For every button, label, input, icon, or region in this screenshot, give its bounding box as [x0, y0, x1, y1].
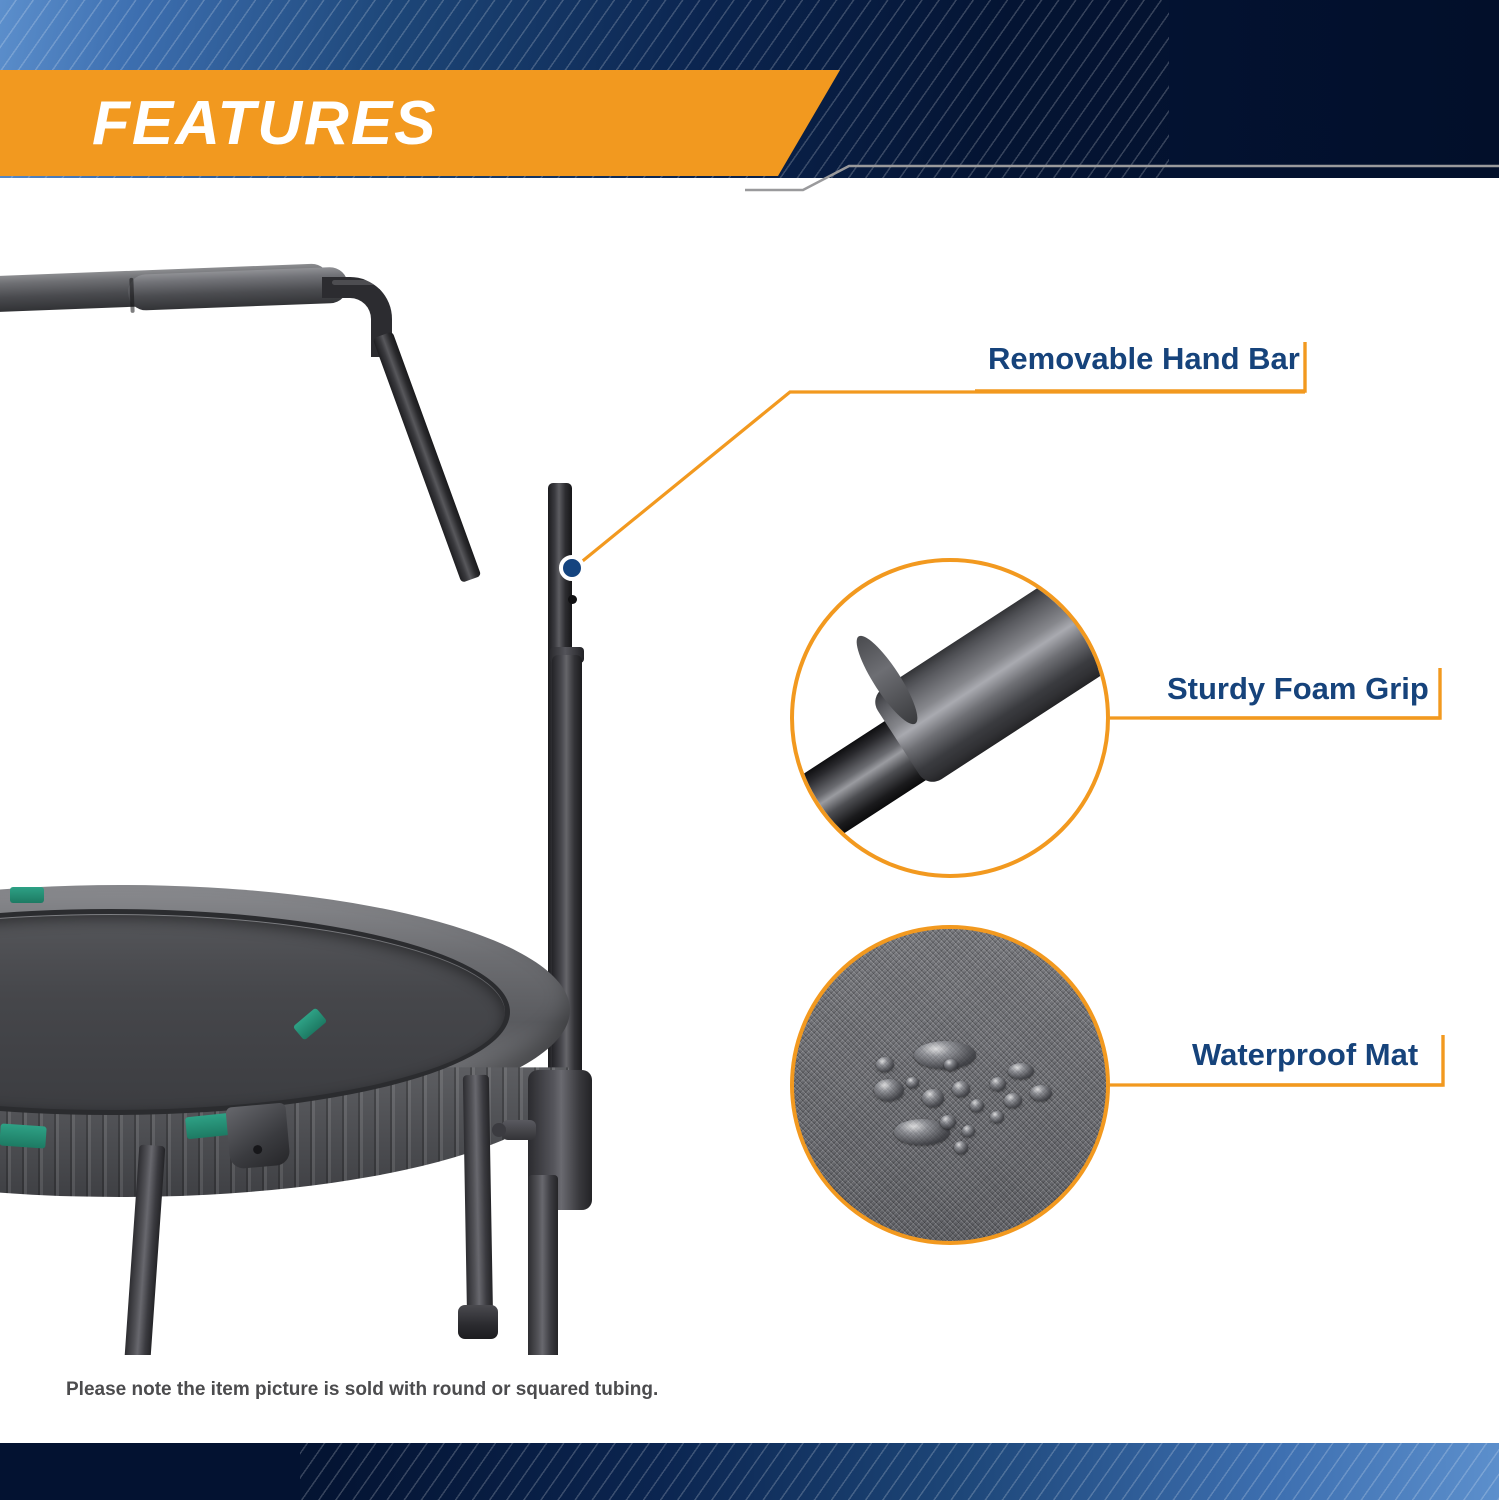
- page-title: FEATURES: [92, 78, 438, 170]
- header-background-right-solid: [1169, 0, 1499, 178]
- water-droplet: [990, 1077, 1006, 1091]
- trampoline-leg: [528, 1175, 558, 1355]
- trampoline-leg: [463, 1075, 493, 1325]
- water-droplet: [954, 1141, 968, 1154]
- water-droplet: [1008, 1063, 1034, 1079]
- callout-label-waterproof-mat: Waterproof Mat: [1192, 1037, 1418, 1073]
- hand-bar-anchor-dot: [559, 555, 585, 581]
- feature-infographic-page: FEATURES: [0, 0, 1499, 1500]
- product-illustration: [0, 215, 700, 1355]
- header-accent-rule: [745, 160, 1499, 194]
- hand-bar-post-screw: [568, 595, 577, 604]
- water-droplet: [876, 1057, 894, 1072]
- hand-bar-foam-right: [127, 267, 348, 311]
- water-droplet: [1030, 1085, 1052, 1101]
- hand-bar-mount-knob: [502, 1120, 536, 1140]
- water-droplet: [962, 1125, 975, 1137]
- detail-circle-foam-grip: [790, 558, 1110, 878]
- callout-label-removable-hand-bar: Removable Hand Bar: [988, 341, 1300, 377]
- detail-circle-waterproof-mat: [790, 925, 1110, 1245]
- disclaimer-text: Please note the item picture is sold wit…: [66, 1379, 658, 1401]
- water-droplet: [906, 1077, 919, 1088]
- footer-background-left-solid: [0, 1443, 300, 1500]
- water-droplet: [940, 1115, 956, 1129]
- trampoline-leg-foot: [458, 1305, 498, 1339]
- trampoline-strap: [10, 887, 44, 903]
- callout-label-sturdy-foam-grip: Sturdy Foam Grip: [1167, 671, 1429, 707]
- water-droplet: [874, 1079, 904, 1101]
- water-droplet: [944, 1059, 958, 1071]
- water-droplet: [970, 1099, 984, 1112]
- water-droplet: [1004, 1093, 1022, 1108]
- water-droplet: [922, 1089, 944, 1107]
- hand-bar-diagonal-segment: [373, 331, 482, 583]
- water-droplet: [990, 1111, 1004, 1123]
- trampoline-leg-clip: [225, 1103, 290, 1170]
- water-droplet: [952, 1081, 970, 1097]
- trampoline-strap: [0, 1123, 47, 1148]
